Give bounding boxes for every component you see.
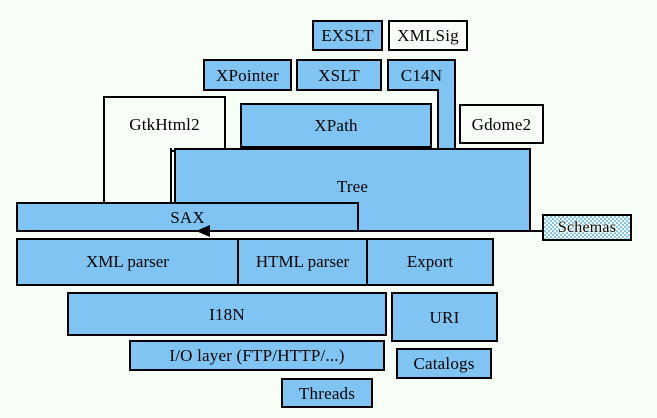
node-threads[interactable]: Threads — [281, 378, 373, 408]
node-sax-label: SAX — [170, 209, 205, 226]
connector-gtkhtml2-to-sax — [103, 148, 172, 205]
node-gtkhtml2-label-holder: GtkHtml2 — [103, 96, 226, 152]
node-uri-label: URI — [430, 309, 460, 326]
architecture-diagram: EXSLT XMLSig XPointer XSLT C14N GtkHtml2… — [0, 0, 657, 418]
node-c14n-label: C14N — [401, 67, 442, 84]
node-sax[interactable]: SAX — [16, 202, 359, 232]
connector-c14n-to-tree — [437, 89, 456, 151]
node-io-layer[interactable]: I/O layer (FTP/HTTP/...) — [129, 340, 385, 371]
node-html-parser[interactable]: HTML parser — [237, 240, 366, 284]
node-xslt-label: XSLT — [318, 67, 360, 84]
seam-c14n — [439, 87, 454, 93]
node-i18n[interactable]: I18N — [67, 292, 387, 336]
node-xpath-label: XPath — [314, 117, 358, 134]
node-schemas-label: Schemas — [558, 220, 616, 236]
node-exslt-label: EXSLT — [321, 27, 373, 44]
node-i18n-label: I18N — [209, 306, 245, 323]
node-gtkhtml2-label: GtkHtml2 — [129, 116, 200, 133]
node-html-parser-label: HTML parser — [256, 252, 349, 272]
node-io-layer-label: I/O layer (FTP/HTTP/...) — [169, 347, 344, 364]
edge-schemas-to-sax — [196, 230, 544, 232]
node-gdome2-label: Gdome2 — [472, 116, 532, 133]
node-xmlsig[interactable]: XMLSig — [388, 20, 468, 51]
node-xpointer[interactable]: XPointer — [203, 59, 292, 91]
node-uri[interactable]: URI — [391, 292, 498, 342]
node-xml-parser-label: XML parser — [86, 252, 169, 272]
parser-band: XML parser HTML parser Export — [16, 238, 494, 286]
node-xml-parser[interactable]: XML parser — [18, 240, 237, 284]
edge-schemas-to-sax-arrowhead — [196, 225, 210, 237]
node-xslt[interactable]: XSLT — [296, 59, 382, 91]
node-tree-label: Tree — [337, 178, 368, 195]
node-threads-label: Threads — [299, 385, 355, 402]
node-exslt[interactable]: EXSLT — [312, 20, 383, 51]
node-xpointer-label: XPointer — [216, 67, 279, 84]
node-export-label: Export — [407, 252, 453, 272]
node-xmlsig-label: XMLSig — [397, 27, 459, 44]
node-catalogs[interactable]: Catalogs — [396, 348, 492, 379]
node-catalogs-label: Catalogs — [413, 355, 474, 372]
node-schemas[interactable]: Schemas — [542, 214, 632, 241]
node-xpath[interactable]: XPath — [240, 103, 432, 148]
node-gdome2[interactable]: Gdome2 — [459, 104, 544, 144]
node-export[interactable]: Export — [366, 240, 492, 284]
